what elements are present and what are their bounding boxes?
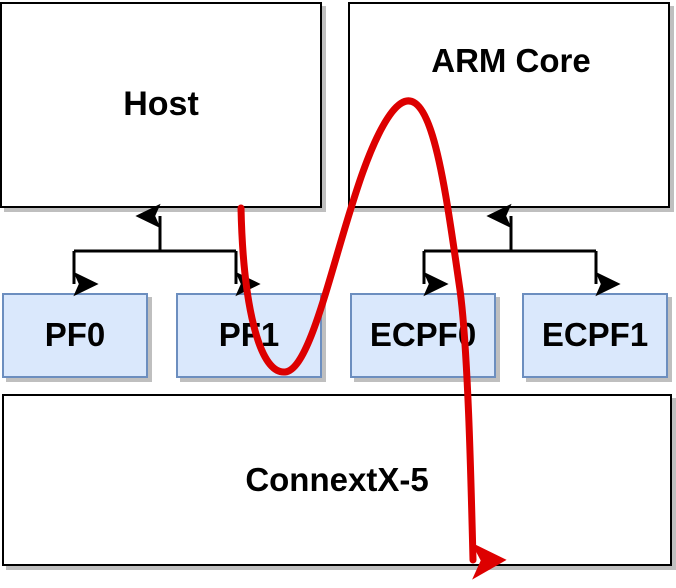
- arm-core-label: ARM Core: [350, 42, 672, 80]
- arm-connector-tree: [424, 216, 596, 284]
- pf0-label: PF0: [45, 318, 106, 353]
- connectx5-block: ConnextX-5: [2, 394, 672, 566]
- pf1-label: PF1: [219, 318, 280, 353]
- host-label: Host: [123, 87, 199, 123]
- ecpf1-label: ECPF1: [542, 318, 648, 353]
- host-block: Host: [0, 2, 322, 208]
- host-connector-tree: [74, 216, 236, 284]
- pf1-block: PF1: [176, 293, 322, 378]
- ecpf0-block: ECPF0: [350, 293, 496, 378]
- connectx5-label: ConnextX-5: [245, 463, 428, 498]
- diagram-canvas: Host ARM Core OVS PF0 PF1 ECPF0 ECPF1 Co…: [0, 0, 676, 588]
- arm-core-block: ARM Core OVS: [348, 2, 670, 208]
- ecpf1-block: ECPF1: [522, 293, 668, 378]
- ecpf0-label: ECPF0: [370, 318, 476, 353]
- pf0-block: PF0: [2, 293, 148, 378]
